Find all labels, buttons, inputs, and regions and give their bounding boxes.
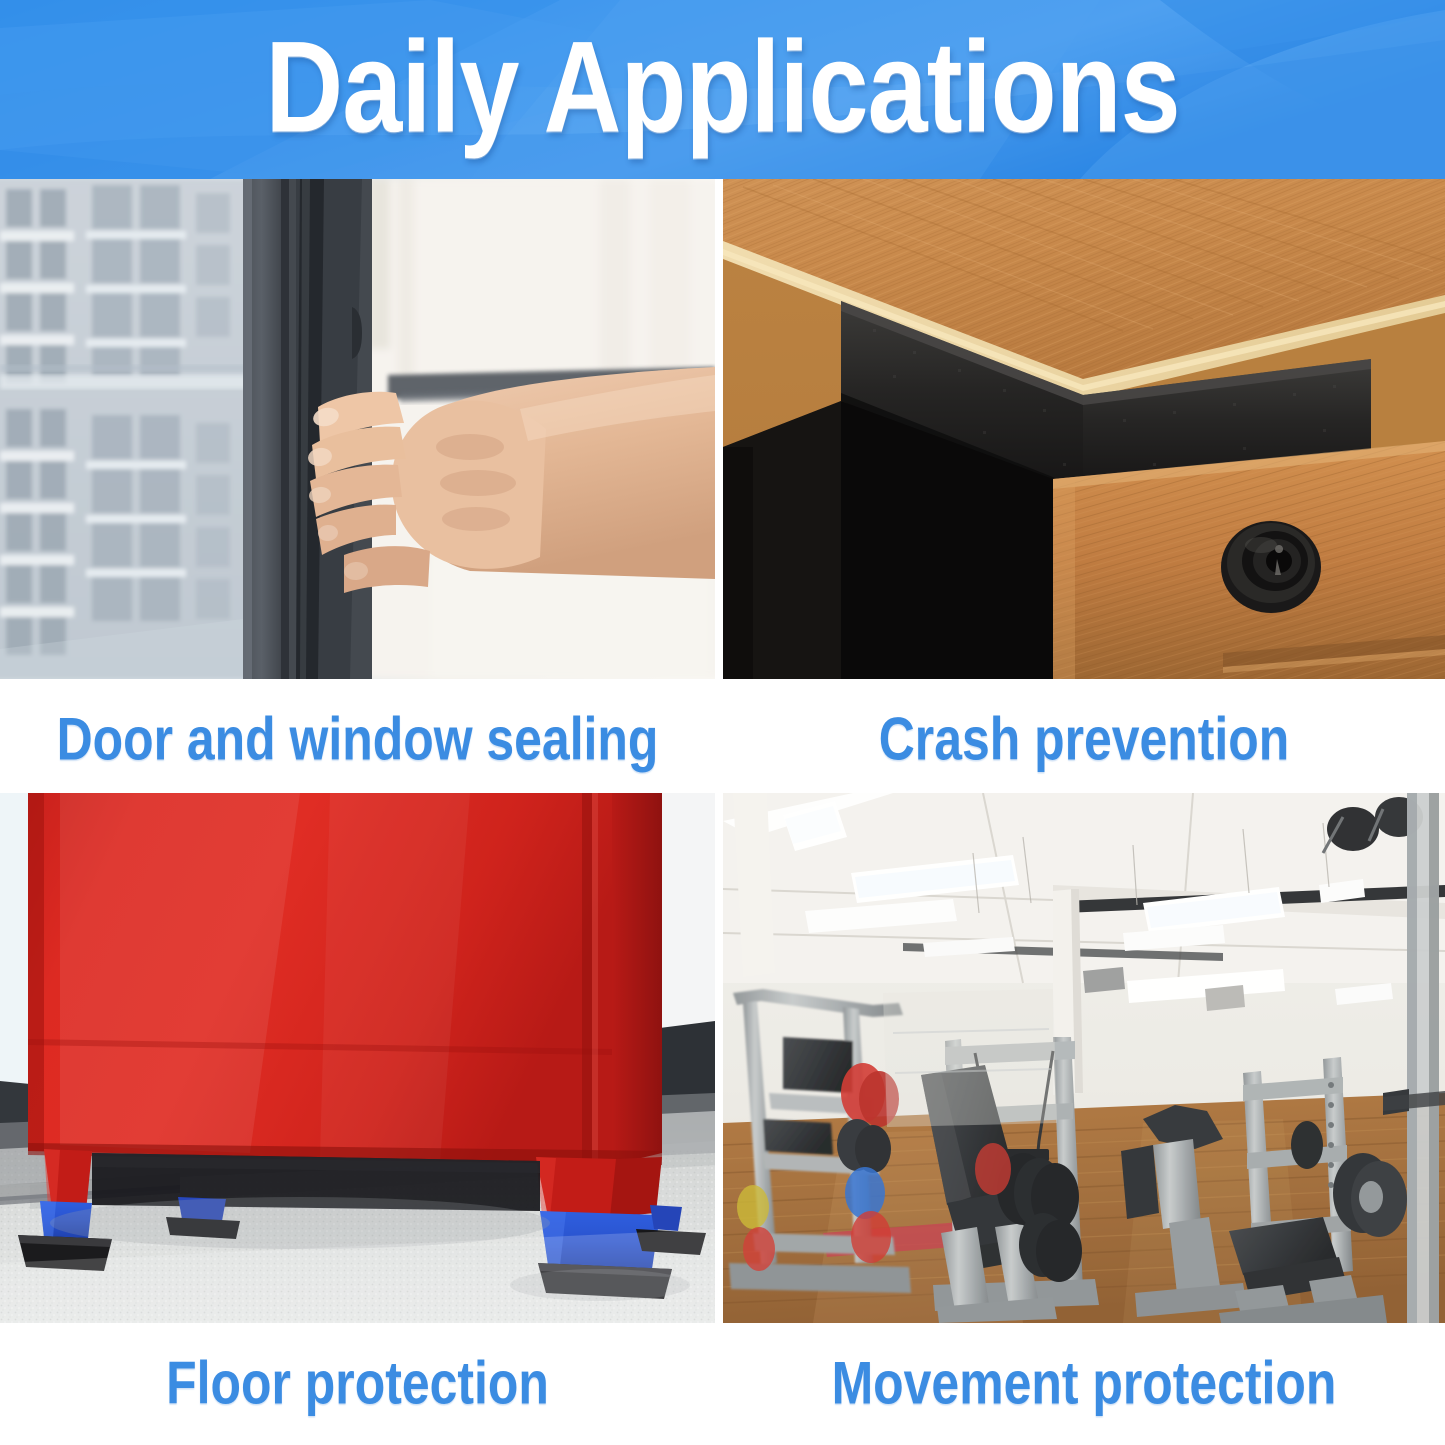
caption-crash-prevention: Crash prevention	[737, 710, 1430, 770]
infographic-page: Daily Applications	[0, 0, 1445, 1445]
panel-floor-protection	[0, 793, 715, 1323]
panel-movement-protection	[723, 793, 1445, 1323]
photo-floor-protection	[0, 793, 715, 1323]
panel-crash-prevention	[723, 179, 1445, 679]
photo-crash-prevention	[723, 179, 1445, 679]
hand	[307, 367, 715, 593]
page-title: Daily Applications	[51, 0, 1395, 179]
panel-door-window-sealing	[0, 179, 715, 679]
caption-floor-protection: Floor protection	[14, 1354, 700, 1414]
photo-door-window-sealing	[0, 179, 715, 679]
header-banner: Daily Applications	[0, 0, 1445, 179]
caption-door-window-sealing: Door and window sealing	[14, 710, 700, 770]
photo-movement-protection	[723, 793, 1445, 1323]
cabinet-lock	[1221, 521, 1321, 613]
caption-movement-protection: Movement protection	[737, 1354, 1430, 1414]
